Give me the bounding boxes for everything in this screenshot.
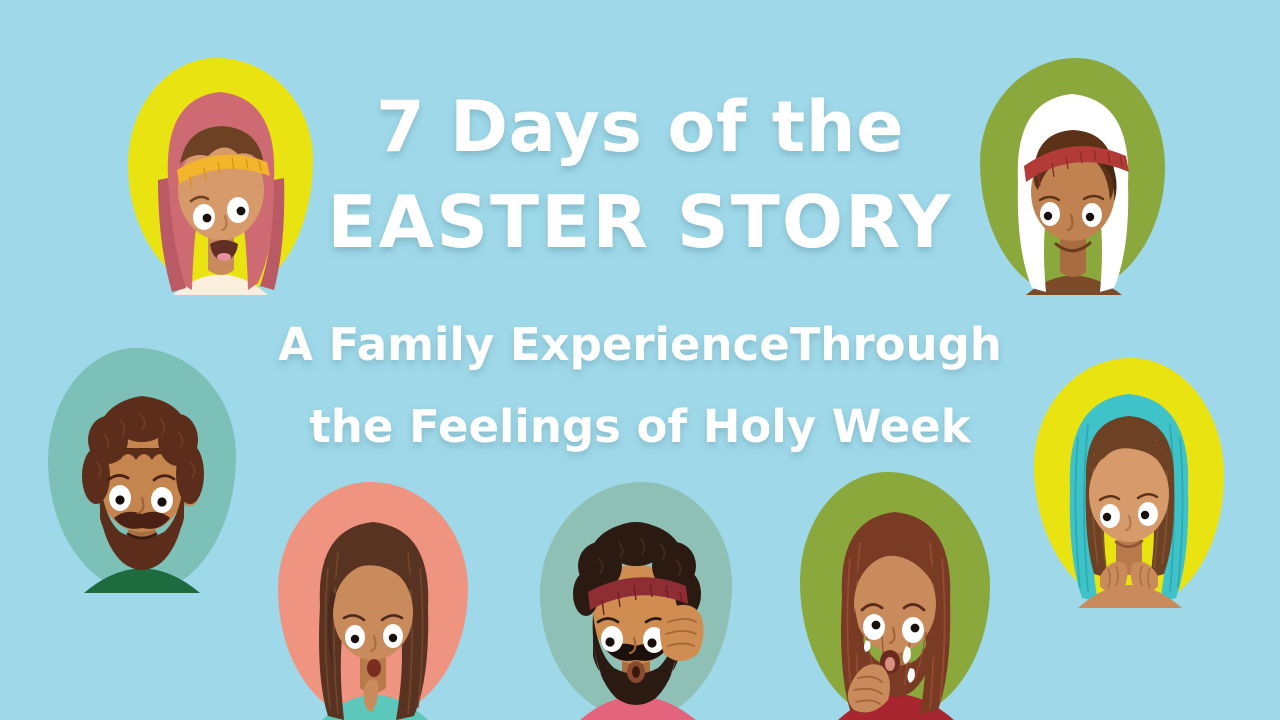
character-woman-veiled-teal bbox=[1034, 358, 1224, 608]
character-man-crying-longhair bbox=[800, 472, 990, 720]
portrait-illustration bbox=[278, 482, 468, 720]
portrait-illustration bbox=[800, 472, 990, 720]
character-woman-worried-longhair bbox=[278, 482, 468, 720]
character-woman-surprised-headscarf bbox=[128, 58, 313, 295]
portrait-illustration bbox=[980, 58, 1165, 295]
portrait-illustration bbox=[1034, 358, 1224, 608]
character-boy-smiling-keffiyeh bbox=[980, 58, 1165, 295]
portrait-illustration bbox=[540, 482, 732, 720]
character-man-bearded-curly bbox=[48, 348, 236, 593]
portrait-illustration bbox=[128, 58, 313, 295]
portrait-illustration bbox=[48, 348, 236, 593]
character-man-shocked-headband bbox=[540, 482, 732, 720]
easter-story-poster: 7 Days of the EASTER STORY A Family Expe… bbox=[0, 0, 1280, 720]
